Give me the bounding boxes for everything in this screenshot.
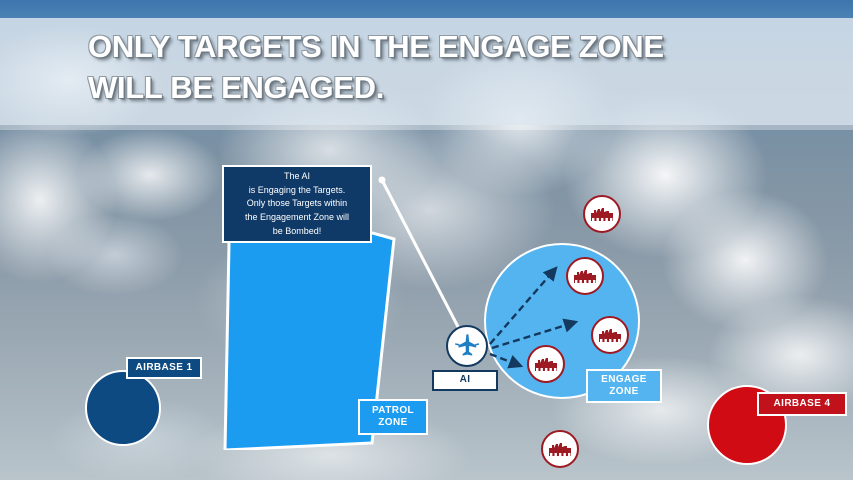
target-inside-1[interactable] <box>566 257 604 295</box>
slide-canvas: ONLY TARGETS IN THE ENGAGE ZONE WILL BE … <box>0 0 853 480</box>
target-outside-right[interactable] <box>591 316 629 354</box>
label-airbase-1[interactable]: AIRBASE 1 <box>126 357 202 379</box>
label-engage-zone[interactable]: ENGAGE ZONE <box>586 369 662 403</box>
airbase-1-shape[interactable] <box>85 370 161 446</box>
factory-target-icon <box>533 356 559 372</box>
target-outside-top[interactable] <box>583 195 621 233</box>
callout-box: The AI is Engaging the Targets. Only tho… <box>222 165 372 243</box>
target-inside-3[interactable] <box>527 345 565 383</box>
ai-aircraft-marker[interactable] <box>446 325 488 367</box>
sky-top-strip <box>0 0 853 18</box>
label-airbase-4[interactable]: AIRBASE 4 <box>757 392 847 416</box>
factory-target-icon <box>589 206 615 222</box>
label-patrol-zone[interactable]: PATROL ZONE <box>358 399 428 435</box>
title-band-underline <box>0 125 853 130</box>
target-outside-bottom[interactable] <box>541 430 579 468</box>
factory-target-icon <box>572 268 598 284</box>
fighter-jet-icon <box>453 332 481 360</box>
factory-target-icon <box>547 441 573 457</box>
callout-text: The AI is Engaging the Targets. Only tho… <box>245 170 349 238</box>
label-ai[interactable]: AI <box>432 370 498 391</box>
factory-target-icon <box>597 327 623 343</box>
page-title: ONLY TARGETS IN THE ENGAGE ZONE WILL BE … <box>88 27 788 109</box>
